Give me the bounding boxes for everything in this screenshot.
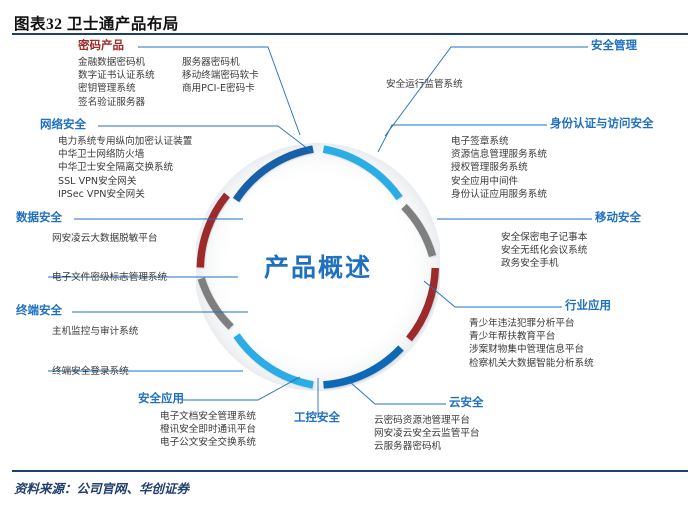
list-item: 电子文件密级标志管理系统 bbox=[52, 271, 167, 284]
list-item: 数字证书认证系统 bbox=[78, 69, 182, 82]
list-item: 云密码资源池管理平台 bbox=[374, 414, 484, 427]
callout-security-management[interactable]: 安全管理 bbox=[591, 40, 637, 53]
callout-data-security-header: 数据安全 bbox=[16, 212, 62, 225]
callout-security-application-items: 电子文档安全管理系统 橙讯安全即时通讯平台 电子公文安全交换系统 bbox=[160, 410, 256, 450]
list-item: 安全应用中间件 bbox=[451, 175, 654, 188]
callout-endpoint-security[interactable]: 终端安全 bbox=[16, 305, 62, 318]
callout-security-application-header: 安全应用 bbox=[138, 393, 256, 406]
callout-cloud-security-items: 云密码资源池管理平台 网安凌云安全云监管平台 云服务器密码机 bbox=[374, 414, 484, 454]
list-item: 电子签章系统 bbox=[451, 135, 654, 148]
callout-data-security-item-secondary: 电子文件密级标志管理系统 bbox=[52, 271, 167, 284]
list-item: 服务器密码机 bbox=[182, 56, 240, 69]
source-divider bbox=[12, 470, 688, 472]
list-item: 中华卫士安全隔离交换系统 bbox=[58, 161, 192, 174]
title-divider-top bbox=[12, 33, 688, 35]
list-item: 金融数据密码机 bbox=[78, 56, 182, 69]
figure-container: 图表32 卫士通产品布局 bbox=[0, 0, 700, 509]
list-item: 身份认证应用服务系统 bbox=[451, 188, 654, 201]
list-item: 检察机关大数据智能分析系统 bbox=[469, 357, 611, 370]
list-item: 网安凌云大数据脱敏平台 bbox=[52, 232, 158, 245]
callout-security-application[interactable]: 安全应用 电子文档安全管理系统 橙讯安全即时通讯平台 电子公文安全交换系统 bbox=[138, 393, 256, 450]
callout-endpoint-security-header: 终端安全 bbox=[16, 305, 62, 318]
callout-data-security-items: 网安凌云大数据脱敏平台 bbox=[52, 232, 158, 245]
list-item: 安全无纸化会议系统 bbox=[501, 244, 641, 257]
callout-data-security[interactable]: 数据安全 bbox=[16, 212, 62, 225]
callout-industry-application-items: 青少年违法犯罪分析平台 青少年帮扶教育平台 涉案财物集中管理信息平台 检察机关大… bbox=[469, 317, 611, 370]
list-item: 授权管理服务系统 bbox=[451, 161, 654, 174]
list-item: 电子公文安全交换系统 bbox=[160, 436, 256, 449]
list-item: SSL VPN安全网关 bbox=[58, 175, 192, 188]
list-item: 主机监控与审计系统 bbox=[52, 325, 138, 338]
list-item: 商用PCI-E密码卡 bbox=[182, 82, 255, 95]
list-item: 终端安全登录系统 bbox=[52, 365, 129, 378]
list-item: 网安凌云安全云监管平台 bbox=[374, 427, 484, 440]
list-item: 橙讯安全即时通讯平台 bbox=[160, 423, 256, 436]
page-title: 图表32 卫士通产品布局 bbox=[14, 12, 179, 34]
list-item: 密钥管理系统 bbox=[78, 82, 182, 95]
list-item: 电力系统专用纵向加密认证装置 bbox=[58, 135, 192, 148]
callout-network-security-header: 网络安全 bbox=[40, 119, 192, 132]
callout-industrial-control-security-header: 工控安全 bbox=[294, 412, 340, 425]
callout-security-management-header: 安全管理 bbox=[591, 40, 637, 53]
list-item: 云服务器密码机 bbox=[374, 440, 484, 453]
center-label: 产品概述 bbox=[196, 248, 440, 284]
callout-mobile-security-items: 安全保密电子记事本 安全无纸化会议系统 政务安全手机 bbox=[501, 231, 641, 271]
list-item: IPSec VPN安全网关 bbox=[58, 188, 192, 201]
callout-mobile-security[interactable]: 移动安全 安全保密电子记事本 安全无纸化会议系统 政务安全手机 bbox=[595, 212, 641, 271]
list-item: 青少年违法犯罪分析平台 bbox=[469, 317, 611, 330]
list-item: 安全运行监管系统 bbox=[386, 78, 463, 91]
callout-network-security-items: 电力系统专用纵向加密认证装置 中华卫士网络防火墙 中华卫士安全隔离交换系统 SS… bbox=[58, 135, 192, 201]
callout-identity-access-security-items: 电子签章系统 资源信息管理服务系统 授权管理服务系统 安全应用中间件 身份认证应… bbox=[451, 135, 654, 201]
callout-endpoint-security-item-secondary: 终端安全登录系统 bbox=[52, 365, 129, 378]
callout-industry-application-header: 行业应用 bbox=[565, 300, 611, 313]
callout-industry-application[interactable]: 行业应用 青少年违法犯罪分析平台 青少年帮扶教育平台 涉案财物集中管理信息平台 … bbox=[565, 300, 611, 370]
list-item: 涉案财物集中管理信息平台 bbox=[469, 343, 611, 356]
callout-mobile-security-header: 移动安全 bbox=[595, 212, 641, 225]
list-item: 政务安全手机 bbox=[501, 257, 641, 270]
list-item: 移动终端密码软卡 bbox=[182, 69, 259, 82]
list-item: 签名验证服务器 bbox=[78, 96, 182, 109]
list-item: 中华卫士网络防火墙 bbox=[58, 148, 192, 161]
callout-security-management-items: 安全运行监管系统 bbox=[386, 78, 463, 91]
list-item: 资源信息管理服务系统 bbox=[451, 148, 654, 161]
callout-crypto-products-items: 金融数据密码机 服务器密码机 数字证书认证系统 移动终端密码软卡 密钥管理系统 … bbox=[78, 56, 259, 109]
connector-industry-application bbox=[424, 281, 562, 307]
list-item: 青少年帮扶教育平台 bbox=[469, 330, 611, 343]
callout-cloud-security[interactable]: 云安全 云密码资源池管理平台 网安凌云安全云监管平台 云服务器密码机 bbox=[449, 397, 484, 454]
callout-identity-access-security-header: 身份认证与访问安全 bbox=[550, 118, 654, 131]
callout-endpoint-security-items: 主机监控与审计系统 bbox=[52, 325, 138, 338]
list-item: 电子文档安全管理系统 bbox=[160, 410, 256, 423]
callout-network-security[interactable]: 网络安全 电力系统专用纵向加密认证装置 中华卫士网络防火墙 中华卫士安全隔离交换… bbox=[40, 119, 192, 201]
callout-crypto-products[interactable]: 密码产品 金融数据密码机 服务器密码机 数字证书认证系统 移动终端密码软卡 密钥… bbox=[78, 40, 259, 109]
source-note: 资料来源：公司官网、华创证券 bbox=[14, 478, 189, 497]
callout-crypto-products-header: 密码产品 bbox=[78, 40, 259, 53]
callout-industrial-control-security[interactable]: 工控安全 bbox=[294, 412, 340, 425]
callout-identity-access-security[interactable]: 身份认证与访问安全 电子签章系统 资源信息管理服务系统 授权管理服务系统 安全应… bbox=[550, 118, 654, 201]
callout-cloud-security-header: 云安全 bbox=[449, 397, 484, 410]
list-item: 安全保密电子记事本 bbox=[501, 231, 641, 244]
